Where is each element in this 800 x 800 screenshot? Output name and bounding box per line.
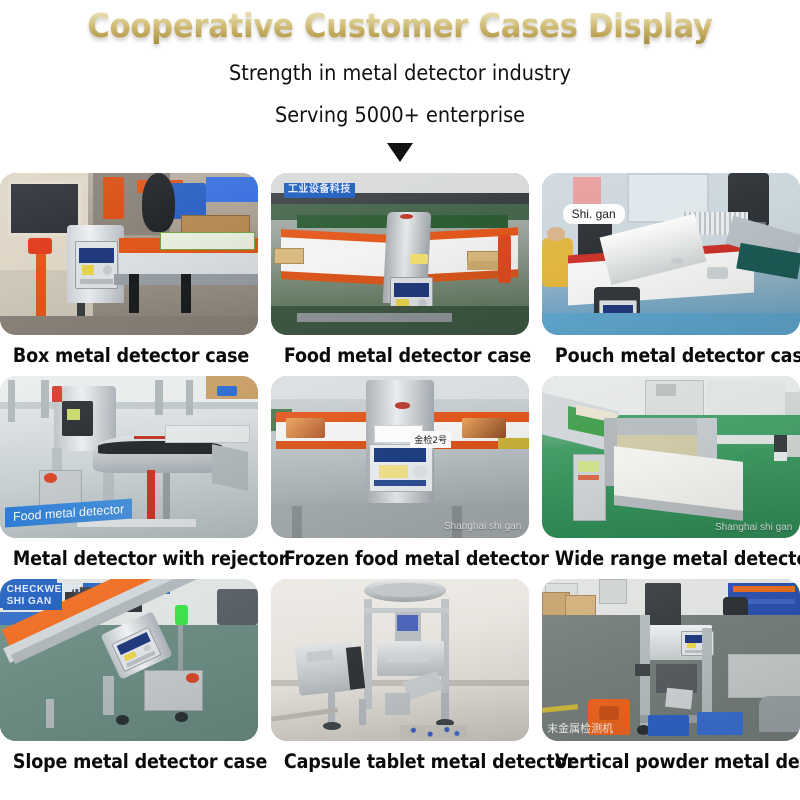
case-caption: Frozen food metal detector xyxy=(284,538,516,579)
case-card-pouch-metal-detector[interactable]: Shi. gan Pouch metal detector case xyxy=(542,173,800,376)
case-card-capsule-tablet-metal-detector[interactable]: Capsule tablet metal detector xyxy=(271,579,529,782)
photo-overlay-badge: Shi. gan xyxy=(563,204,625,224)
case-caption: Metal detector with rejector xyxy=(13,538,245,579)
case-card-frozen-food-metal-detector[interactable]: 金检2号 Shanghai shi gan Frozen food metal … xyxy=(271,376,529,579)
photo-overlay-watermark-cn: 末金属检测机 xyxy=(547,720,613,736)
subtitle-serving: Serving 5000+ enterprise xyxy=(32,103,768,127)
case-photo-box-metal-detector[interactable] xyxy=(0,173,258,335)
case-caption: Vertical powder metal detector xyxy=(555,741,787,782)
case-card-food-metal-detector[interactable]: 工业设备科技 Food metal detector case xyxy=(271,173,529,376)
case-photo-wide-range-metal-detector[interactable]: Shanghai shi gan xyxy=(542,376,800,538)
photo-overlay-sign: 工业设备科技 xyxy=(284,183,355,198)
case-card-box-metal-detector[interactable]: Box metal detector case xyxy=(0,173,258,376)
photo-overlay-watermark: Shanghai shi gan xyxy=(715,522,792,533)
case-photo-food-metal-detector[interactable]: 工业设备科技 xyxy=(271,173,529,335)
case-photo-frozen-food-metal-detector[interactable]: 金检2号 Shanghai shi gan xyxy=(271,376,529,538)
arrow-container xyxy=(0,139,800,165)
triangle-down-icon xyxy=(387,143,413,162)
case-photo-slope-metal-detector[interactable]: CHECKWEIGH SHI GAN xyxy=(0,579,258,741)
case-caption: Pouch metal detector case xyxy=(555,335,787,376)
page-header: Cooperative Customer Cases Display Stren… xyxy=(0,0,800,165)
case-photo-pouch-metal-detector[interactable]: Shi. gan xyxy=(542,173,800,335)
case-photo-vertical-powder-metal-detector[interactable]: 末金属检测机 xyxy=(542,579,800,741)
case-card-vertical-powder-metal-detector[interactable]: 末金属检测机 Vertical powder metal detector xyxy=(542,579,800,782)
case-caption: Wide range metal detector xyxy=(555,538,787,579)
photo-overlay-cn-label: 金检2号 xyxy=(410,431,451,448)
case-caption: Food metal detector case xyxy=(284,335,516,376)
photo-overlay-watermark: Shanghai shi gan xyxy=(444,521,521,532)
photo-overlay-sign-blue: CHECKWEIGH SHI GAN xyxy=(3,583,63,610)
customer-cases-page: Cooperative Customer Cases Display Stren… xyxy=(0,0,800,800)
case-card-metal-detector-with-rejector[interactable]: Food metal detector Metal detector with … xyxy=(0,376,258,579)
case-caption: Slope metal detector case xyxy=(13,741,245,782)
page-title: Cooperative Customer Cases Display xyxy=(28,8,772,44)
case-photo-metal-detector-with-rejector[interactable]: Food metal detector xyxy=(0,376,258,538)
case-caption: Capsule tablet metal detector xyxy=(284,741,516,782)
case-caption: Box metal detector case xyxy=(13,335,245,376)
case-grid: Box metal detector case xyxy=(0,173,800,782)
case-card-slope-metal-detector[interactable]: CHECKWEIGH SHI GAN Slope metal detector … xyxy=(0,579,258,782)
case-photo-capsule-tablet-metal-detector[interactable] xyxy=(271,579,529,741)
case-card-wide-range-metal-detector[interactable]: Shanghai shi gan Wide range metal detect… xyxy=(542,376,800,579)
subtitle-strength: Strength in metal detector industry xyxy=(32,61,768,85)
